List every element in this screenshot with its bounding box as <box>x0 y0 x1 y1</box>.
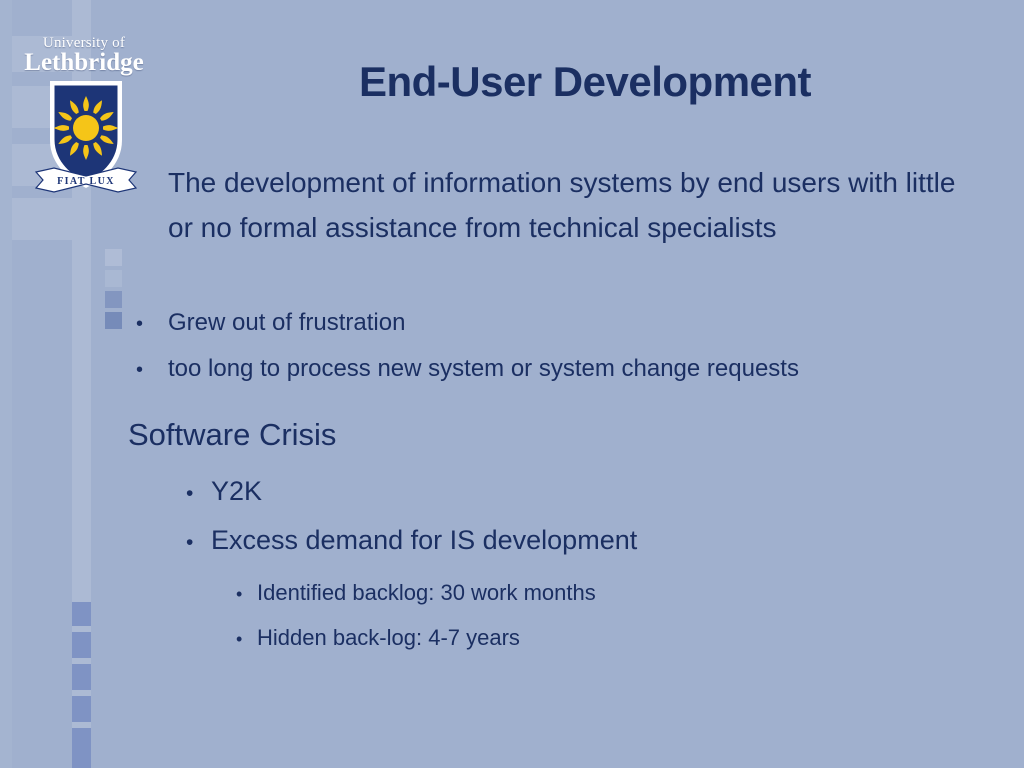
university-wordmark: University of Lethbridge <box>14 36 154 75</box>
list-item: • Hidden back-log: 4-7 years <box>236 625 996 651</box>
list-item-label: Excess demand for IS development <box>211 525 637 556</box>
bullet-marker: • <box>136 360 168 380</box>
list-item: • too long to process new system or syst… <box>136 355 1006 383</box>
list-item-label: Grew out of frustration <box>168 309 405 337</box>
list-item: • Y2K <box>186 476 1006 507</box>
wordmark-line-2: Lethbridge <box>14 50 154 75</box>
section-heading: Software Crisis <box>128 417 336 453</box>
decorative-bottom-square-5 <box>72 728 91 768</box>
decorative-small-square-2 <box>105 270 122 287</box>
decorative-bottom-square-1 <box>72 602 91 626</box>
university-logo: University of Lethbridge <box>14 36 154 201</box>
list-item-label: Y2K <box>211 476 262 507</box>
bullet-marker: • <box>186 483 211 504</box>
list-item: • Excess demand for IS development <box>186 525 1006 556</box>
bullet-marker: • <box>236 585 257 603</box>
list-item-label: Identified backlog: 30 work months <box>257 580 596 606</box>
decorative-bottom-square-4 <box>72 696 91 722</box>
page-title: End-User Development <box>165 58 1005 106</box>
list-item: • Grew out of frustration <box>136 309 1006 337</box>
list-item-label: too long to process new system or system… <box>168 355 799 383</box>
lead-paragraph: The development of information systems b… <box>168 160 968 251</box>
decorative-small-square-3 <box>105 291 122 308</box>
decorative-bottom-square-3 <box>72 664 91 690</box>
bullet-marker: • <box>186 532 211 553</box>
decorative-small-square-4 <box>105 312 122 329</box>
bullet-marker: • <box>136 314 168 334</box>
list-item-label: Hidden back-log: 4-7 years <box>257 625 520 651</box>
decorative-square-upper-4 <box>12 198 72 240</box>
decorative-small-square-1 <box>105 249 122 266</box>
decorative-far-left-column <box>0 0 12 768</box>
decorative-bottom-square-2 <box>72 632 91 658</box>
motto-ribbon-icon: FIAT LUX <box>34 166 138 196</box>
motto-text: FIAT LUX <box>57 176 115 187</box>
list-item: • Identified backlog: 30 work months <box>236 580 996 606</box>
bullet-marker: • <box>236 630 257 648</box>
